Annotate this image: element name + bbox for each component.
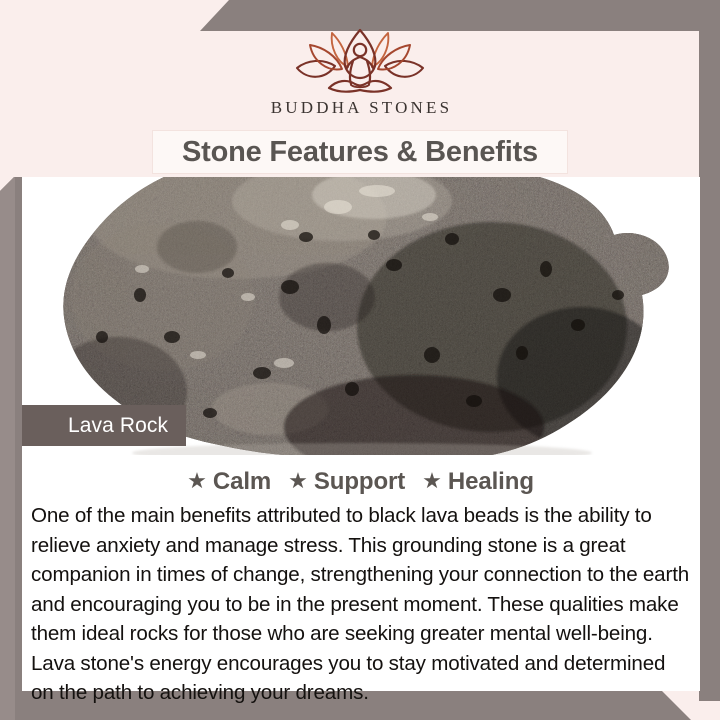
brand-logo: BUDDHA STONES — [0, 28, 720, 118]
star-icon: ★ — [422, 470, 442, 492]
lotus-meditation-figure-icon — [285, 28, 435, 94]
star-icon: ★ — [288, 470, 308, 492]
frame-band-top-right — [200, 0, 720, 31]
benefit-healing: ★ Healing — [422, 468, 534, 496]
benefit-support: ★ Support — [288, 468, 405, 496]
benefits-paragraph: One of the main benefits attributed to b… — [31, 501, 690, 708]
stone-benefits-infographic: BUDDHA STONES Stone Features & Benefits — [0, 0, 720, 720]
star-icon: ★ — [187, 470, 207, 492]
frame-band-left-highlight — [0, 177, 15, 720]
page-title: Stone Features & Benefits — [182, 136, 538, 169]
brand-wordmark: BUDDHA STONES — [0, 98, 720, 118]
benefit-label-healing: Healing — [448, 468, 534, 496]
page-title-plate: Stone Features & Benefits — [152, 130, 568, 174]
benefits-row: ★ Calm ★ Support ★ Healing — [31, 468, 690, 496]
benefit-calm: ★ Calm — [187, 468, 271, 496]
benefit-label-calm: Calm — [213, 468, 271, 496]
photo-caption-label: Lava Rock — [22, 414, 168, 438]
photo-caption-chip: Lava Rock — [22, 405, 186, 446]
description-panel: ★ Calm ★ Support ★ Healing One of the ma… — [22, 455, 700, 691]
benefit-label-support: Support — [314, 468, 405, 496]
